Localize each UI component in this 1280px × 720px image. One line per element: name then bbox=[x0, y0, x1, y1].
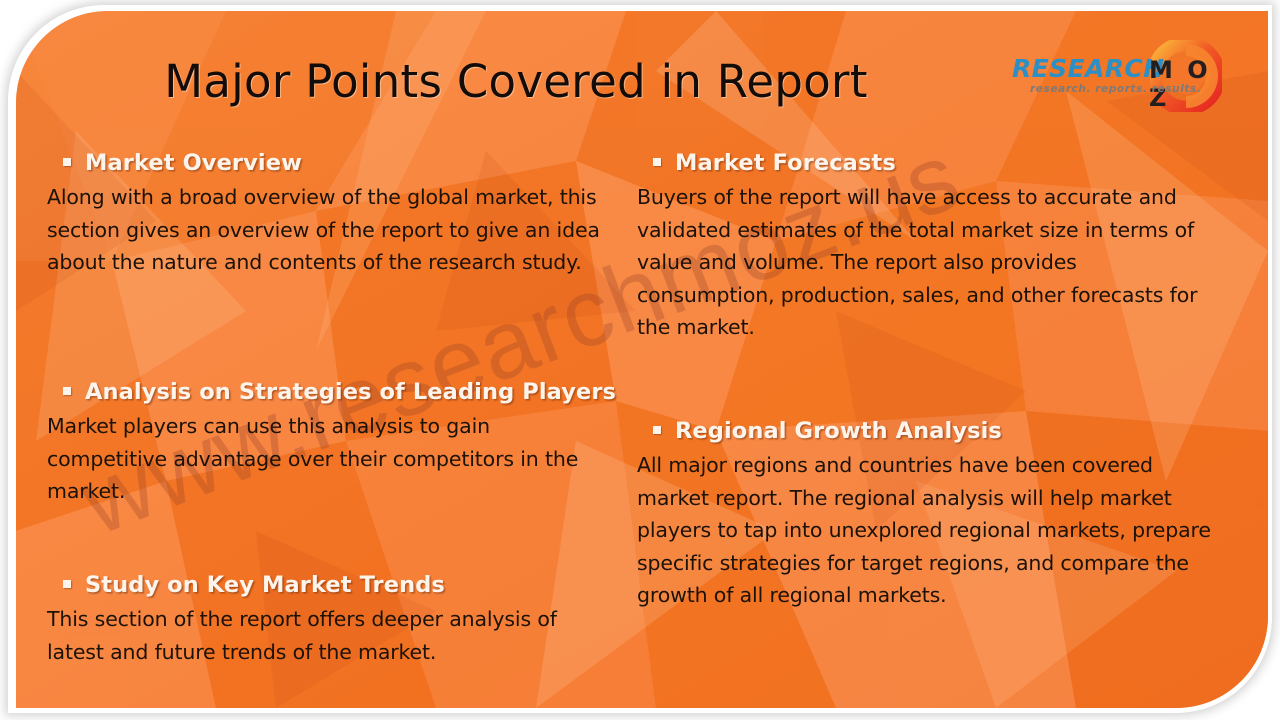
block-heading-text: Study on Key Market Trends bbox=[85, 572, 445, 598]
content-block-market-overview: Market Overview Along with a broad overv… bbox=[47, 149, 627, 279]
block-heading-text: Market Overview bbox=[85, 150, 302, 176]
page-title: Major Points Covered in Report bbox=[16, 55, 1016, 108]
block-body-text: Buyers of the report will have access to… bbox=[637, 181, 1219, 344]
content-block-market-forecasts: Market Forecasts Buyers of the report wi… bbox=[637, 149, 1227, 344]
slide-canvas: www.researchmoz.us Major Points Covered … bbox=[0, 0, 1280, 720]
block-heading-text: Regional Growth Analysis bbox=[675, 418, 1002, 444]
block-body-text: This section of the report offers deeper… bbox=[47, 603, 612, 668]
bullet-square-icon bbox=[63, 158, 71, 166]
bullet-square-icon bbox=[63, 387, 71, 395]
bullet-square-icon bbox=[63, 580, 71, 588]
content-block-analysis-strategies: Analysis on Strategies of Leading Player… bbox=[47, 378, 647, 508]
bullet-square-icon bbox=[653, 158, 661, 166]
block-heading-text: Analysis on Strategies of Leading Player… bbox=[85, 379, 616, 405]
block-body-text: Market players can use this analysis to … bbox=[47, 410, 607, 508]
block-heading: Regional Growth Analysis bbox=[637, 417, 1227, 445]
block-heading-text: Market Forecasts bbox=[675, 150, 896, 176]
logo-brand-primary: RESEARCH bbox=[1012, 54, 1164, 83]
bullet-square-icon bbox=[653, 426, 661, 434]
block-body-text: All major regions and countries have bee… bbox=[637, 449, 1215, 612]
block-heading: Study on Key Market Trends bbox=[47, 571, 627, 599]
logo-tagline: research. reports. results. bbox=[1030, 83, 1201, 95]
block-heading: Analysis on Strategies of Leading Player… bbox=[47, 378, 647, 406]
slide-content: Major Points Covered in Report bbox=[16, 11, 1268, 708]
researchmoz-logo: RESEARCH M O Z research. reports. result… bbox=[1012, 40, 1222, 112]
block-heading: Market Overview bbox=[47, 149, 627, 177]
content-block-regional-growth: Regional Growth Analysis All major regio… bbox=[637, 417, 1227, 612]
content-block-key-market-trends: Study on Key Market Trends This section … bbox=[47, 571, 627, 668]
block-body-text: Along with a broad overview of the globa… bbox=[47, 181, 627, 279]
block-heading: Market Forecasts bbox=[637, 149, 1227, 177]
slide-panel: www.researchmoz.us Major Points Covered … bbox=[16, 11, 1268, 708]
